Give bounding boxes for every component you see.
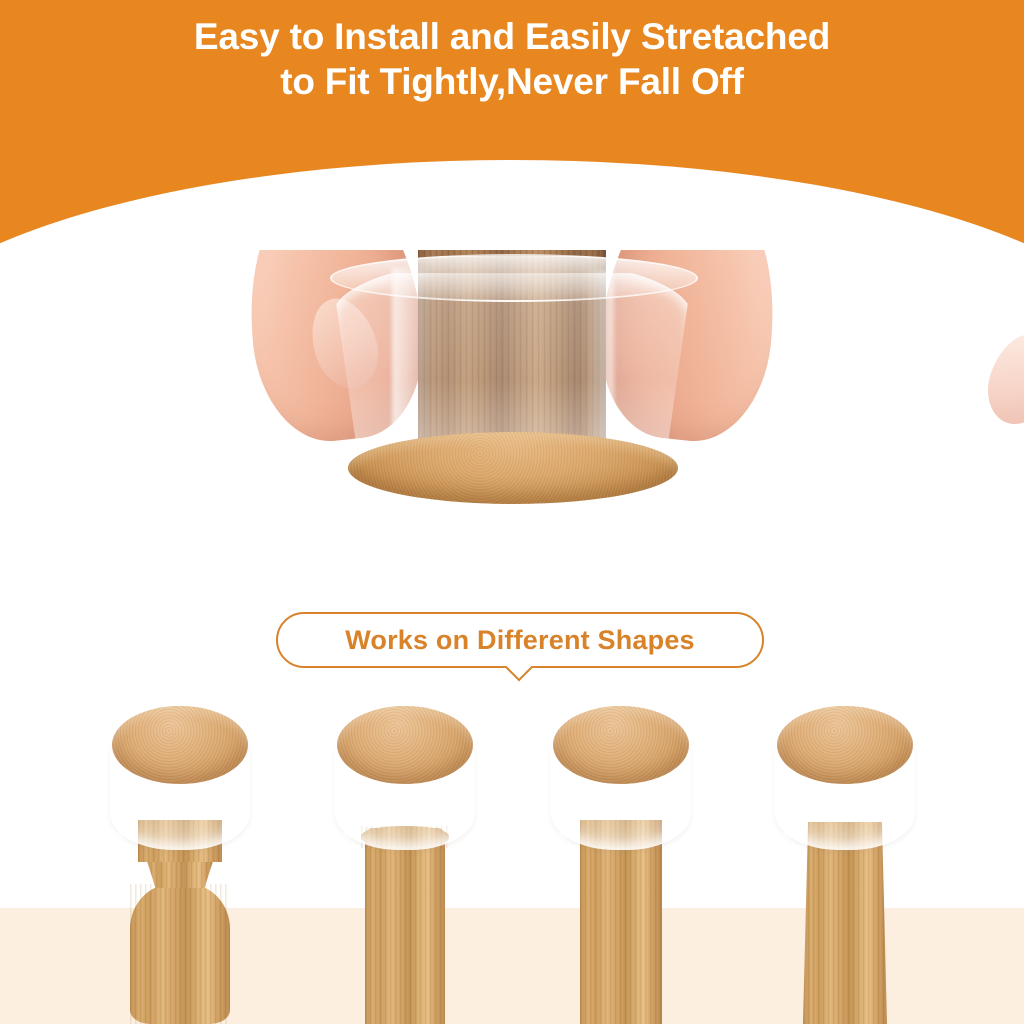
product-infographic: Easy to Install and Easily Stretached to…	[0, 0, 1024, 1024]
leg-item-tapered	[740, 700, 950, 1024]
leg-item-ornate-turned	[75, 700, 285, 1024]
leg-body	[803, 822, 887, 1024]
leg-body	[130, 884, 230, 1024]
header-banner: Easy to Install and Easily Stretached to…	[0, 0, 1024, 250]
felt-pad	[553, 706, 689, 784]
fingernail-right	[978, 326, 1024, 433]
felt-pad	[777, 706, 913, 784]
works-on-shapes-badge: Works on Different Shapes	[276, 612, 764, 668]
leg-body	[580, 820, 662, 1024]
leg-item-round-straight	[300, 700, 510, 1024]
silicone-cap-rim	[330, 254, 698, 302]
badge-label: Works on Different Shapes	[345, 625, 695, 656]
felt-pad	[348, 432, 678, 504]
felt-pad	[337, 706, 473, 784]
leg-body	[365, 828, 445, 1024]
leg-neck	[146, 858, 214, 888]
badge-pointer-icon	[503, 666, 537, 688]
felt-pad	[112, 706, 248, 784]
leg-item-square	[516, 700, 726, 1024]
badge-pill: Works on Different Shapes	[276, 612, 764, 668]
leg-shapes-row	[0, 700, 1024, 1024]
